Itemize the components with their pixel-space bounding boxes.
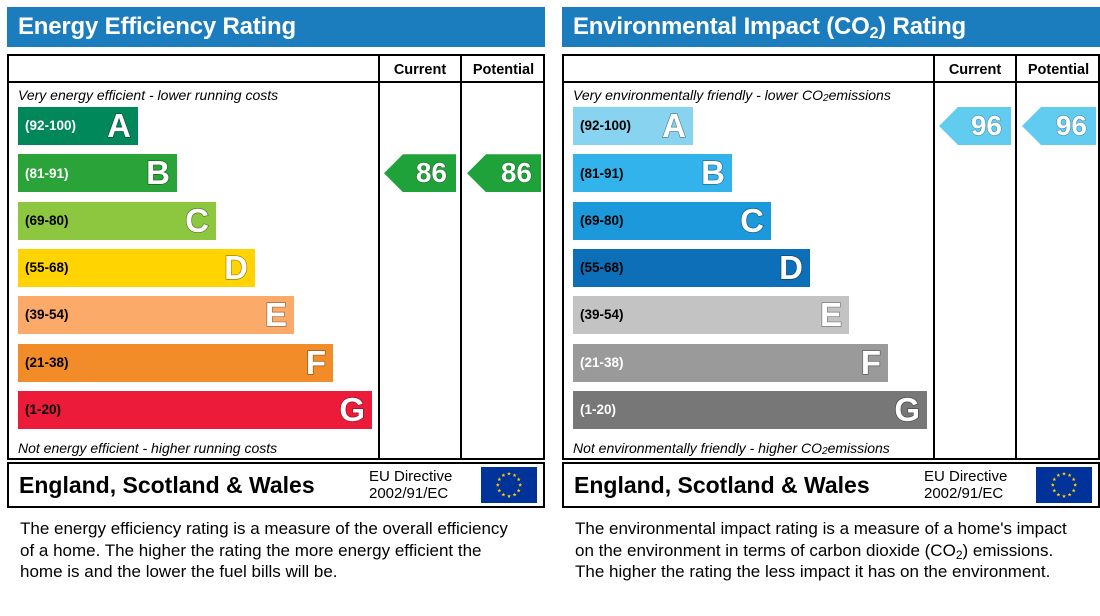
energy-efficiency-panel: Energy Efficiency Rating Current Potenti… xyxy=(0,0,545,616)
band-range-label: (92-100) xyxy=(18,119,76,133)
rating-band-f: (21-38)F xyxy=(573,344,888,382)
directive-line-1: EU Directive xyxy=(924,468,1007,485)
caption-text-pre: Very environmentally friendly - lower CO xyxy=(573,87,823,103)
rating-band-g: (1-20)G xyxy=(573,391,927,429)
title-text-pre: Environmental Impact (CO xyxy=(573,13,870,40)
energy-band-list: (92-100)A(81-91)B(69-80)C(55-68)D(39-54)… xyxy=(9,107,378,436)
rating-band-d: (55-68)D xyxy=(18,249,255,287)
column-header-current: Current xyxy=(935,56,1015,83)
potential-rating-value: 86 xyxy=(501,159,532,187)
caption-very-friendly: Very environmentally friendly - lower CO… xyxy=(564,83,933,107)
band-range-label: (81-91) xyxy=(18,167,69,181)
band-range-label: (39-54) xyxy=(18,308,69,322)
band-letter: G xyxy=(339,393,365,426)
band-range-label: (81-91) xyxy=(573,167,624,181)
caption-very-efficient: Very energy efficient - lower running co… xyxy=(9,83,378,107)
band-letter: D xyxy=(224,251,248,284)
caption-text-post: emissions xyxy=(828,440,890,456)
rating-band-f: (21-38)F xyxy=(18,344,333,382)
footer-region-label: England, Scotland & Wales xyxy=(574,464,870,506)
band-letter: E xyxy=(265,298,287,331)
epc-rating-charts: Energy Efficiency Rating Current Potenti… xyxy=(0,0,1100,616)
band-range-label: (39-54) xyxy=(573,308,624,322)
table-body: Very energy efficient - lower running co… xyxy=(9,83,543,460)
band-letter: A xyxy=(662,109,686,142)
band-range-label: (92-100) xyxy=(573,119,631,133)
directive-line-1: EU Directive xyxy=(369,468,452,485)
caption-text-pre: Not environmentally friendly - higher CO xyxy=(573,440,822,456)
table-body: Very environmentally friendly - lower CO… xyxy=(564,83,1098,460)
band-range-label: (21-38) xyxy=(18,356,69,370)
column-header-current: Current xyxy=(380,56,460,83)
current-rating-arrow: 86 xyxy=(384,154,456,192)
band-range-label: (1-20) xyxy=(573,403,616,417)
caption-not-friendly: Not environmentally friendly - higher CO… xyxy=(564,436,933,460)
title-subscript: 2 xyxy=(870,25,879,42)
band-range-label: (69-80) xyxy=(18,214,69,228)
energy-footer: England, Scotland & Wales EU Directive 2… xyxy=(7,462,545,508)
rating-band-b: (81-91)B xyxy=(18,154,177,192)
eu-stars-circle xyxy=(1036,467,1092,503)
rating-band-b: (81-91)B xyxy=(573,154,732,192)
rating-band-d: (55-68)D xyxy=(573,249,810,287)
energy-description-text: The energy efficiency rating is a measur… xyxy=(20,518,520,583)
caption-subscript: 2 xyxy=(822,446,828,457)
environmental-footer: England, Scotland & Wales EU Directive 2… xyxy=(562,462,1100,508)
band-range-label: (69-80) xyxy=(573,214,624,228)
environmental-band-list: (92-100)A(81-91)B(69-80)C(55-68)D(39-54)… xyxy=(564,107,933,436)
band-range-label: (55-68) xyxy=(573,261,624,275)
environmental-impact-title-bar: Environmental Impact (CO2) Rating xyxy=(562,7,1100,47)
rating-band-e: (39-54)E xyxy=(573,296,849,334)
band-letter: F xyxy=(306,345,326,378)
rating-band-e: (39-54)E xyxy=(18,296,294,334)
current-rating-value: 86 xyxy=(416,159,447,187)
caption-subscript: 2 xyxy=(823,93,829,104)
band-range-label: (21-38) xyxy=(573,356,624,370)
environmental-impact-table: Current Potential Very environmentally f… xyxy=(562,54,1100,460)
band-letter: G xyxy=(894,393,920,426)
eu-stars-circle xyxy=(481,467,537,503)
footer-directive: EU Directive 2002/91/EC xyxy=(924,464,1007,506)
band-letter: D xyxy=(779,251,803,284)
rating-band-a: (92-100)A xyxy=(573,107,693,145)
directive-line-2: 2002/91/EC xyxy=(924,485,1007,502)
caption-text-post: emissions xyxy=(829,87,891,103)
band-range-label: (1-20) xyxy=(18,403,61,417)
rating-band-g: (1-20)G xyxy=(18,391,372,429)
caption-not-efficient: Not energy efficient - higher running co… xyxy=(9,436,378,460)
band-letter: F xyxy=(861,345,881,378)
band-letter: B xyxy=(146,156,170,189)
page-title: Energy Efficiency Rating xyxy=(7,15,296,39)
footer-directive: EU Directive 2002/91/EC xyxy=(369,464,452,506)
eu-flag-icon xyxy=(481,467,537,503)
directive-line-2: 2002/91/EC xyxy=(369,485,452,502)
rating-band-a: (92-100)A xyxy=(18,107,138,145)
page-title: Environmental Impact (CO2) Rating xyxy=(562,15,966,39)
potential-rating-arrow: 96 xyxy=(1022,107,1096,145)
current-rating-arrow: 96 xyxy=(939,107,1011,145)
band-letter: E xyxy=(820,298,842,331)
energy-efficiency-title-bar: Energy Efficiency Rating xyxy=(7,7,545,47)
potential-rating-value: 96 xyxy=(1056,112,1087,140)
blurb-subscript: 2 xyxy=(956,548,963,562)
band-letter: C xyxy=(740,203,764,236)
eu-flag-icon xyxy=(1036,467,1092,503)
current-rating-value: 96 xyxy=(971,112,1002,140)
potential-rating-arrow: 86 xyxy=(467,154,541,192)
band-letter: A xyxy=(107,109,131,142)
rating-band-c: (69-80)C xyxy=(573,202,771,240)
band-letter: C xyxy=(185,203,209,236)
column-header-potential: Potential xyxy=(462,56,545,83)
environmental-description-text: The environmental impact rating is a mea… xyxy=(575,518,1075,583)
footer-region-label: England, Scotland & Wales xyxy=(19,464,315,506)
rating-band-c: (69-80)C xyxy=(18,202,216,240)
environmental-impact-panel: Environmental Impact (CO2) Rating Curren… xyxy=(555,0,1100,616)
table-header-row: Current Potential xyxy=(564,56,1098,83)
table-header-row: Current Potential xyxy=(9,56,543,83)
title-text-post: ) Rating xyxy=(878,13,966,40)
band-letter: B xyxy=(701,156,725,189)
energy-efficiency-table: Current Potential Very energy efficient … xyxy=(7,54,545,460)
band-range-label: (55-68) xyxy=(18,261,69,275)
column-header-potential: Potential xyxy=(1017,56,1100,83)
